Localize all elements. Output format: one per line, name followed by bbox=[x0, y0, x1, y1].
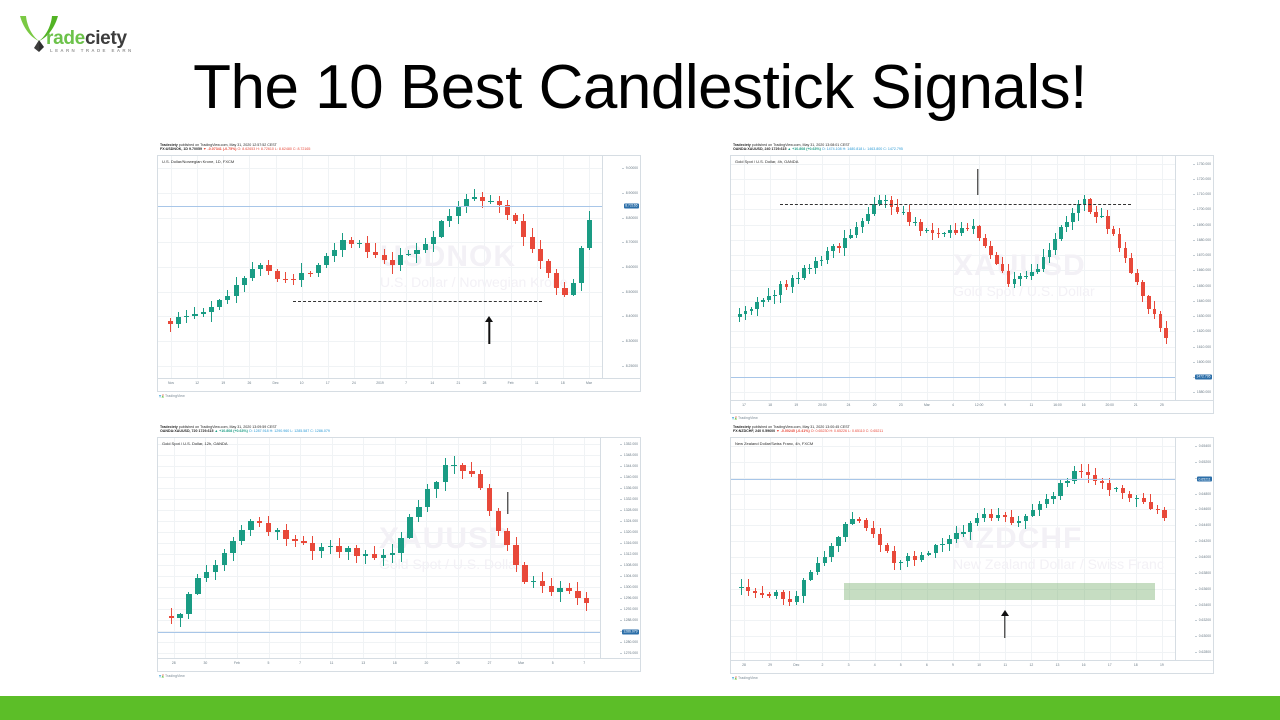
time-tick-label: Mar bbox=[586, 381, 592, 385]
candlestick bbox=[788, 438, 792, 660]
price-tick-label: 1660.000 bbox=[1197, 268, 1211, 272]
candle-body bbox=[443, 465, 448, 482]
candlestick bbox=[837, 156, 841, 400]
tradingview-credit[interactable]: TradingView bbox=[159, 673, 185, 678]
candlestick bbox=[1093, 438, 1097, 660]
candlestick bbox=[934, 438, 938, 660]
chart-plot-area[interactable]: NZDCHFNew Zealand Dollar / Swiss FrancNe… bbox=[730, 437, 1214, 674]
candlestick bbox=[823, 438, 827, 660]
candle-body bbox=[820, 260, 824, 261]
price-tick-label: 1630.000 bbox=[1197, 314, 1211, 318]
price-tick-label: 1344.000 bbox=[624, 464, 638, 468]
candle-body bbox=[760, 593, 764, 594]
tradingview-credit[interactable]: TradingView bbox=[732, 415, 758, 420]
candlestick bbox=[538, 156, 543, 378]
candle-body bbox=[823, 557, 827, 563]
price-tick-label: 1580.000 bbox=[1197, 390, 1211, 394]
candlestick bbox=[773, 156, 777, 400]
logo-word-rade: rade bbox=[46, 28, 85, 49]
candlestick bbox=[885, 438, 889, 660]
candle-body bbox=[829, 546, 833, 557]
time-tick-label: Dec bbox=[793, 663, 799, 667]
time-tick-label: 10 bbox=[300, 381, 304, 385]
candle-body bbox=[1077, 204, 1081, 213]
quote-change: -0.00245 (-0.41%) bbox=[781, 429, 810, 433]
quote-symbol: OANDA:XAUUSD, 240 bbox=[733, 147, 771, 151]
candle-body bbox=[1007, 271, 1011, 284]
candlestick bbox=[372, 438, 377, 658]
price-axis[interactable]: 1352.0001348.0001344.0001340.0001336.000… bbox=[600, 438, 640, 658]
candlestick bbox=[217, 156, 222, 378]
candle-body bbox=[809, 572, 813, 580]
price-tick-label: 8.25000 bbox=[626, 364, 638, 368]
chart-header: Tradeciety published on TradingView.com,… bbox=[157, 424, 641, 434]
time-axis[interactable]: 17181920:00242023Mar412:0091116:001620:0… bbox=[731, 400, 1213, 413]
candle-body bbox=[373, 252, 378, 256]
candle-body bbox=[217, 300, 222, 307]
tradingview-credit[interactable]: TradingView bbox=[159, 393, 185, 398]
candle-body bbox=[1135, 498, 1139, 499]
price-tick-label: 0.64600 bbox=[1199, 507, 1211, 511]
candle-body bbox=[416, 507, 421, 516]
gridline-vertical bbox=[744, 438, 745, 660]
candle-body bbox=[464, 199, 469, 206]
chart-quote-line: OANDA:XAUUSD, 720 1729.615 ▲ +10.808 (+0… bbox=[160, 429, 638, 433]
candle-body bbox=[774, 592, 778, 596]
time-tick-label: 19 bbox=[221, 381, 225, 385]
price-tick-label: 1340.000 bbox=[624, 475, 638, 479]
time-tick-label: 20 bbox=[873, 403, 877, 407]
candlestick bbox=[937, 156, 941, 400]
candlestick bbox=[266, 156, 271, 378]
candlestick bbox=[1036, 156, 1040, 400]
candle-body bbox=[864, 520, 868, 528]
candle-wick bbox=[885, 195, 886, 208]
time-tick-label: 7 bbox=[405, 381, 407, 385]
gridline-vertical bbox=[1110, 156, 1111, 400]
candlestick bbox=[566, 438, 571, 658]
candlestick bbox=[513, 438, 518, 658]
candle-body bbox=[566, 588, 571, 590]
candle-body bbox=[431, 237, 436, 244]
candlestick bbox=[878, 438, 882, 660]
candlestick bbox=[258, 156, 263, 378]
candle-body bbox=[836, 537, 840, 546]
arrow-head bbox=[1001, 610, 1009, 616]
candle-body bbox=[480, 197, 485, 201]
chart-plot-area[interactable]: XAUUSDGold Spot / U.S. DollarGold Spot /… bbox=[730, 155, 1214, 414]
candlestick bbox=[982, 438, 986, 660]
candle-body bbox=[575, 591, 580, 599]
time-axis[interactable]: 2829Dec2345691011121316171819 bbox=[731, 660, 1213, 673]
page-title: The 10 Best Candlestick Signals! bbox=[0, 52, 1280, 123]
candlestick bbox=[472, 156, 477, 378]
candle-body bbox=[738, 314, 742, 316]
chart-plot-area[interactable]: USDNOKU.S. Dollar / Norwegian KroneU.S. … bbox=[157, 155, 641, 392]
candlestick bbox=[767, 438, 771, 660]
quote-symbol: FX:USDNOK, 1D bbox=[160, 147, 188, 151]
candlestick bbox=[522, 438, 527, 658]
candlestick bbox=[308, 156, 313, 378]
time-tick-label: 12 bbox=[195, 381, 199, 385]
candlestick bbox=[505, 156, 510, 378]
candle-body bbox=[204, 572, 209, 578]
price-tick-label: 1332.000 bbox=[624, 497, 638, 501]
tradingview-label: TradingView bbox=[738, 676, 758, 680]
time-tick-label: 20:00 bbox=[818, 403, 827, 407]
time-tick-label: 28 bbox=[172, 661, 176, 665]
price-tick-label: 1670.000 bbox=[1197, 253, 1211, 257]
price-tick-label: 1292.000 bbox=[624, 607, 638, 611]
candlestick bbox=[989, 438, 993, 660]
candle-body bbox=[755, 302, 759, 309]
candlestick bbox=[896, 156, 900, 400]
candlestick bbox=[774, 438, 778, 660]
candle-body bbox=[831, 246, 835, 251]
time-tick-label: Dec bbox=[273, 381, 279, 385]
chart-plot-area[interactable]: XAUUSDGold Spot / U.S. DollarGold Spot /… bbox=[157, 437, 641, 672]
candle-body bbox=[1118, 234, 1122, 247]
candle-body bbox=[562, 288, 567, 295]
candlestick bbox=[336, 438, 341, 658]
candle-body bbox=[791, 278, 795, 286]
time-tick-label: 24 bbox=[352, 381, 356, 385]
price-tick-label: 1650.000 bbox=[1197, 284, 1211, 288]
time-tick-label: 25 bbox=[1160, 403, 1164, 407]
candlestick bbox=[826, 156, 830, 400]
candle-body bbox=[1001, 264, 1005, 271]
time-axis[interactable]: Nov121926Dec10172420197142128Feb1118Mar bbox=[158, 378, 640, 391]
chart-card-chart-usdnok-daily: Tradeciety published on TradingView.com,… bbox=[157, 142, 641, 392]
candle-body bbox=[186, 594, 191, 615]
candlestick bbox=[291, 156, 296, 378]
chart-quote-line: FX:USDNOK, 1D 9.70059 ▼ -0.07341 (-0.75%… bbox=[160, 147, 638, 151]
time-tick-label: 11 bbox=[1003, 663, 1007, 667]
candlestick bbox=[809, 438, 813, 660]
candle-body bbox=[802, 268, 806, 277]
chart-card-chart-xauusd-12h: Tradeciety published on TradingView.com,… bbox=[157, 424, 641, 672]
price-tick-label: 1304.000 bbox=[624, 574, 638, 578]
candlestick bbox=[587, 156, 592, 378]
candle-body bbox=[363, 554, 368, 555]
candle-body bbox=[557, 588, 562, 592]
candle-body bbox=[1013, 279, 1017, 283]
tradingview-logo-icon bbox=[159, 394, 164, 398]
candlestick bbox=[954, 438, 958, 660]
time-tick-label: 16:00 bbox=[1053, 403, 1062, 407]
time-tick-label: Mar bbox=[518, 661, 524, 665]
time-tick-label: 9 bbox=[1004, 403, 1006, 407]
candlestick bbox=[1018, 156, 1022, 400]
candle-body bbox=[1031, 510, 1035, 516]
time-tick-label: 28 bbox=[483, 381, 487, 385]
candle-body bbox=[169, 616, 174, 618]
candlestick bbox=[1007, 156, 1011, 400]
candlestick bbox=[781, 438, 785, 660]
quote-arrow-icon: ▼ bbox=[776, 429, 780, 433]
candle-body bbox=[291, 279, 296, 280]
candlestick bbox=[1077, 156, 1081, 400]
time-axis[interactable]: 2830Feb57111318202527Mar57 bbox=[158, 658, 640, 671]
tradingview-label: TradingView bbox=[738, 416, 758, 420]
candlestick bbox=[423, 156, 428, 378]
candle-body bbox=[258, 265, 263, 270]
price-tick-label: 0.64400 bbox=[1199, 523, 1211, 527]
candlestick bbox=[927, 438, 931, 660]
price-tick-label: 0.63600 bbox=[1199, 587, 1211, 591]
candle-wick bbox=[490, 195, 491, 204]
candle-body bbox=[201, 312, 206, 313]
price-axis[interactable]: 1730.0001720.0001710.0001700.0001690.000… bbox=[1175, 156, 1213, 400]
current-price-badge: 1286.079 bbox=[622, 629, 639, 634]
candlestick bbox=[177, 438, 182, 658]
candle-body bbox=[1024, 276, 1028, 277]
candlestick bbox=[354, 438, 359, 658]
candle-body bbox=[168, 321, 173, 324]
candle-body bbox=[456, 206, 461, 217]
candlestick bbox=[425, 438, 430, 658]
candle-body bbox=[439, 221, 444, 237]
candle-body bbox=[940, 544, 944, 546]
candlestick bbox=[390, 438, 395, 658]
price-tick-label: 8.90000 bbox=[626, 191, 638, 195]
candle-body bbox=[843, 238, 847, 248]
price-tick-label: 1352.000 bbox=[624, 442, 638, 446]
price-tick-label: 1316.000 bbox=[624, 541, 638, 545]
candlestick bbox=[381, 438, 386, 658]
candle-body bbox=[496, 511, 501, 531]
price-tick-label: 0.63800 bbox=[1199, 571, 1211, 575]
candlestick bbox=[947, 438, 951, 660]
candlestick bbox=[398, 156, 403, 378]
time-tick-label: 19 bbox=[1160, 663, 1164, 667]
candle-body bbox=[796, 278, 800, 279]
gridline-vertical bbox=[1084, 438, 1085, 660]
candlestick bbox=[1024, 438, 1028, 660]
candle-body bbox=[497, 201, 502, 205]
candle-body bbox=[406, 254, 411, 255]
candlestick bbox=[349, 156, 354, 378]
candlestick bbox=[1045, 438, 1049, 660]
candlestick bbox=[319, 438, 324, 658]
candle-body bbox=[878, 534, 882, 544]
price-tick-label: 1690.000 bbox=[1197, 223, 1211, 227]
candle-body bbox=[1017, 521, 1021, 523]
time-tick-label: 9 bbox=[952, 663, 954, 667]
candle-body bbox=[398, 538, 403, 554]
candle-body bbox=[192, 314, 197, 316]
price-axis[interactable]: 9.000008.900008.800008.700008.600008.500… bbox=[602, 156, 640, 378]
candle-wick bbox=[809, 264, 810, 274]
time-tick-label: 20:00 bbox=[1105, 403, 1114, 407]
candle-body bbox=[248, 521, 253, 530]
candle-body bbox=[1036, 269, 1040, 272]
candle-body bbox=[365, 243, 370, 252]
candle-body bbox=[761, 300, 765, 302]
quote-price: 0.59600 bbox=[762, 429, 775, 433]
candle-body bbox=[478, 474, 483, 488]
candle-body bbox=[907, 212, 911, 222]
candlestick bbox=[961, 438, 965, 660]
candlestick bbox=[1088, 156, 1092, 400]
tradingview-credit[interactable]: TradingView bbox=[732, 675, 758, 680]
price-tick-label: 1700.000 bbox=[1197, 207, 1211, 211]
candlestick bbox=[1048, 156, 1052, 400]
candle-body bbox=[345, 548, 350, 552]
candlestick bbox=[554, 156, 559, 378]
price-tick-label: 1328.000 bbox=[624, 508, 638, 512]
candle-body bbox=[242, 278, 247, 285]
candlestick bbox=[584, 438, 589, 658]
candle-body bbox=[1058, 483, 1062, 495]
candlestick bbox=[940, 438, 944, 660]
candle-body bbox=[587, 220, 592, 248]
candle-body bbox=[488, 201, 493, 202]
candle-body bbox=[1071, 213, 1075, 222]
candle-body bbox=[861, 221, 865, 227]
candlestick bbox=[169, 438, 174, 658]
candle-wick bbox=[330, 540, 331, 554]
gridline-vertical bbox=[458, 438, 459, 658]
candlestick bbox=[225, 156, 230, 378]
time-tick-label: 23 bbox=[899, 403, 903, 407]
time-tick-label: 13 bbox=[1056, 663, 1060, 667]
price-tick-label: 1296.000 bbox=[624, 596, 638, 600]
candlestick bbox=[176, 156, 181, 378]
candle-body bbox=[398, 255, 403, 265]
candlestick bbox=[382, 156, 387, 378]
candlestick bbox=[357, 156, 362, 378]
candlestick bbox=[209, 156, 214, 378]
quote-arrow-icon: ▼ bbox=[203, 147, 207, 151]
candlestick bbox=[1107, 438, 1111, 660]
candlestick bbox=[230, 438, 235, 658]
price-tick-label: 1280.000 bbox=[624, 640, 638, 644]
candlestick bbox=[954, 156, 958, 400]
candlestick bbox=[234, 156, 239, 378]
candlestick bbox=[899, 438, 903, 660]
candlestick bbox=[1142, 438, 1146, 660]
candle-body bbox=[469, 471, 474, 474]
candle-body bbox=[744, 311, 748, 314]
candle-body bbox=[837, 246, 841, 248]
candle-body bbox=[1149, 502, 1153, 509]
candle-body bbox=[472, 197, 477, 199]
candlestick bbox=[575, 438, 580, 658]
gridline-vertical bbox=[354, 156, 355, 378]
candle-body bbox=[451, 465, 456, 466]
candle-body bbox=[336, 546, 341, 552]
candlestick bbox=[919, 156, 923, 400]
candlestick bbox=[831, 156, 835, 400]
candle-body bbox=[521, 221, 526, 237]
time-tick-label: 2 bbox=[821, 663, 823, 667]
gridline-vertical bbox=[511, 156, 512, 378]
candlestick bbox=[204, 438, 209, 658]
candlestick bbox=[753, 438, 757, 660]
candlestick bbox=[836, 438, 840, 660]
candlestick bbox=[1031, 438, 1035, 660]
candle-body bbox=[871, 528, 875, 535]
price-tick-label: 1610.000 bbox=[1197, 345, 1211, 349]
candlestick bbox=[332, 156, 337, 378]
quote-arrow-icon: ▲ bbox=[215, 429, 219, 433]
footer-accent-bar bbox=[0, 696, 1280, 720]
candlestick bbox=[890, 156, 894, 400]
candlestick bbox=[892, 438, 896, 660]
candlestick bbox=[443, 438, 448, 658]
price-tick-label: 8.40000 bbox=[626, 314, 638, 318]
candlestick bbox=[168, 156, 173, 378]
price-tick-label: 0.64200 bbox=[1199, 539, 1211, 543]
candlestick bbox=[1017, 438, 1021, 660]
logo-word-ciety: ciety bbox=[85, 28, 127, 49]
price-tick-label: 1348.000 bbox=[624, 453, 638, 457]
candle-body bbox=[931, 230, 935, 234]
candle-wick bbox=[471, 462, 472, 476]
time-tick-label: 4 bbox=[952, 403, 954, 407]
current-price-line bbox=[158, 206, 602, 207]
candle-body bbox=[319, 547, 324, 551]
candlestick bbox=[755, 156, 759, 400]
price-axis[interactable]: 0.654000.652000.650000.648000.646000.644… bbox=[1175, 438, 1213, 660]
candlestick bbox=[398, 438, 403, 658]
candlestick bbox=[431, 156, 436, 378]
quote-ohlc: O: 0.65230 H: 0.65226 L: 0.65110 C: 0.65… bbox=[811, 429, 883, 433]
candlestick bbox=[746, 438, 750, 660]
candle-wick bbox=[967, 223, 968, 232]
time-tick-label: 18 bbox=[393, 661, 397, 665]
candle-body bbox=[802, 580, 806, 596]
candlestick bbox=[1124, 156, 1128, 400]
time-tick-label: 7 bbox=[583, 661, 585, 665]
candle-body bbox=[1003, 515, 1007, 517]
arrow-stem bbox=[489, 320, 490, 344]
gridline-vertical bbox=[223, 156, 224, 378]
time-tick-label: 18 bbox=[768, 403, 772, 407]
candlestick bbox=[843, 156, 847, 400]
price-tick-label: 8.60000 bbox=[626, 265, 638, 269]
candlestick bbox=[878, 156, 882, 400]
candle-body bbox=[779, 284, 783, 295]
candlestick bbox=[414, 156, 419, 378]
time-tick-label: 10 bbox=[977, 663, 981, 667]
chart-header: Tradeciety published on TradingView.com,… bbox=[730, 424, 1214, 434]
candle-body bbox=[1142, 498, 1146, 502]
candle-wick bbox=[285, 272, 286, 282]
candle-body bbox=[899, 562, 903, 564]
candle-wick bbox=[963, 525, 964, 537]
candlestick bbox=[390, 156, 395, 378]
candle-body bbox=[357, 243, 362, 244]
quote-change: -0.07341 (-0.75%) bbox=[208, 147, 237, 151]
candlestick bbox=[283, 438, 288, 658]
candle-body bbox=[234, 285, 239, 296]
candlestick bbox=[1065, 438, 1069, 660]
price-tick-label: 8.80000 bbox=[626, 216, 638, 220]
candle-body bbox=[773, 295, 777, 296]
current-price-badge: 8.72165 bbox=[624, 203, 639, 208]
candlestick bbox=[521, 156, 526, 378]
candlestick bbox=[192, 156, 197, 378]
candle-body bbox=[814, 261, 818, 267]
candle-body bbox=[892, 551, 896, 563]
candle-body bbox=[584, 598, 589, 602]
candle-body bbox=[1086, 472, 1090, 475]
gridline-vertical bbox=[237, 438, 238, 658]
candlestick bbox=[1094, 156, 1098, 400]
candlestick bbox=[942, 156, 946, 400]
